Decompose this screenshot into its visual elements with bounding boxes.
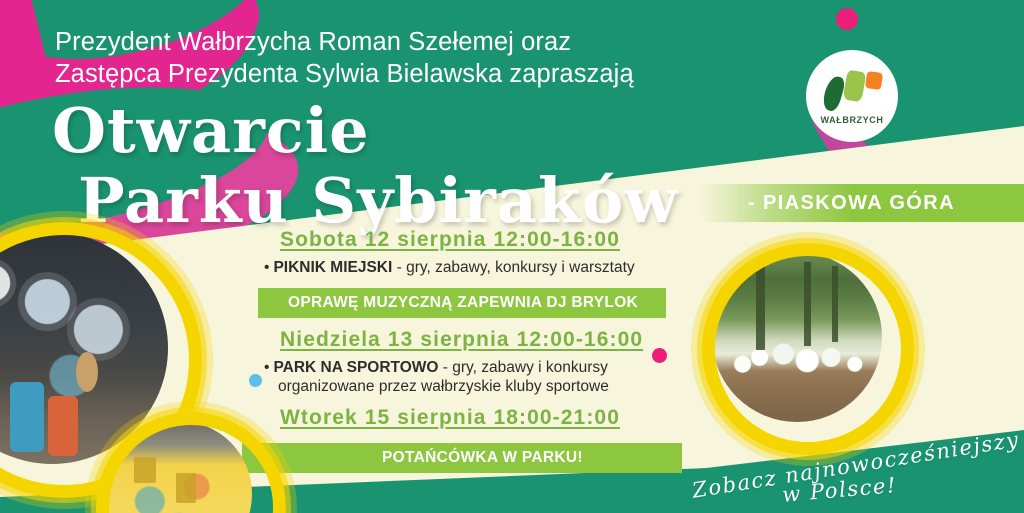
programme-day-2-event-name: PARK NA SPORTOWO: [273, 359, 438, 376]
header-line-1: Prezydent Wałbrzycha Roman Szełemej oraz: [55, 26, 815, 58]
header-line-2: Zastępca Prezydenta Sylwia Bielawska zap…: [55, 58, 815, 90]
programme-band-2-label: POTAŃCÓWKA W PARKU!: [382, 449, 583, 467]
logo-light-green-shape-icon: [843, 70, 867, 103]
programme-day-2-event-detail: - gry, zabawy i konkursy: [439, 359, 608, 376]
programme-band-1: OPRAWĘ MUZYCZNĄ ZAPEWNIA DJ BRYLOK: [258, 288, 666, 318]
programme-band-1-label: OPRAWĘ MUZYCZNĄ ZAPEWNIA DJ BRYLOK: [288, 294, 638, 312]
location-banner: - PIASKOWA GÓRA: [700, 184, 1024, 222]
programme-day-1-description: •PIKNIK MIEJSKI - gry, zabawy, konkursy …: [264, 258, 678, 277]
programme-day-2-event-detail-2: organizowane przez wałbrzyskie kluby spo…: [278, 377, 678, 396]
programme-day-2: Niedziela 13 sierpnia 12:00-16:00 •PARK …: [258, 328, 678, 396]
programme-list: Sobota 12 sierpnia 12:00-16:00 •PIKNIK M…: [258, 228, 678, 277]
programme-day-1-event-detail: - gry, zabawy, konkursy i warsztaty: [392, 259, 634, 276]
programme-day-3: Wtorek 15 sierpnia 18:00-21:00: [258, 406, 678, 436]
header-invitation: Prezydent Wałbrzycha Roman Szełemej oraz…: [55, 26, 815, 90]
programme-band-2: POTAŃCÓWKA W PARKU!: [242, 443, 682, 473]
logo-dark-green-shape-icon: [821, 74, 847, 112]
page-title: Otwarcie Parku Sybiraków: [52, 96, 812, 236]
bullet-marker-2: •: [264, 359, 269, 376]
location-banner-label: - PIASKOWA GÓRA: [748, 192, 955, 215]
programme-day-3-date: Wtorek 15 sierpnia 18:00-21:00: [280, 406, 678, 430]
programme-day-2-date: Niedziela 13 sierpnia 12:00-16:00: [280, 328, 678, 352]
logo-orange-square-icon: [865, 71, 883, 90]
logo-wordmark: WAŁBRZYCH: [806, 115, 898, 125]
programme-day-1-date: Sobota 12 sierpnia 12:00-16:00: [280, 228, 678, 252]
programme-day-1-event-name: PIKNIK MIEJSKI: [273, 259, 392, 276]
magenta-dot-top: [836, 8, 858, 30]
walbrzych-logo: WAŁBRZYCH: [806, 50, 898, 142]
event-poster: Prezydent Wałbrzycha Roman Szełemej oraz…: [0, 0, 1024, 513]
programme-day-1: Sobota 12 sierpnia 12:00-16:00 •PIKNIK M…: [258, 228, 678, 277]
title-line-1: Otwarcie: [52, 94, 370, 167]
programme-day-2-description: •PARK NA SPORTOWO - gry, zabawy i konkur…: [264, 358, 678, 396]
bullet-marker-1: •: [264, 259, 269, 276]
